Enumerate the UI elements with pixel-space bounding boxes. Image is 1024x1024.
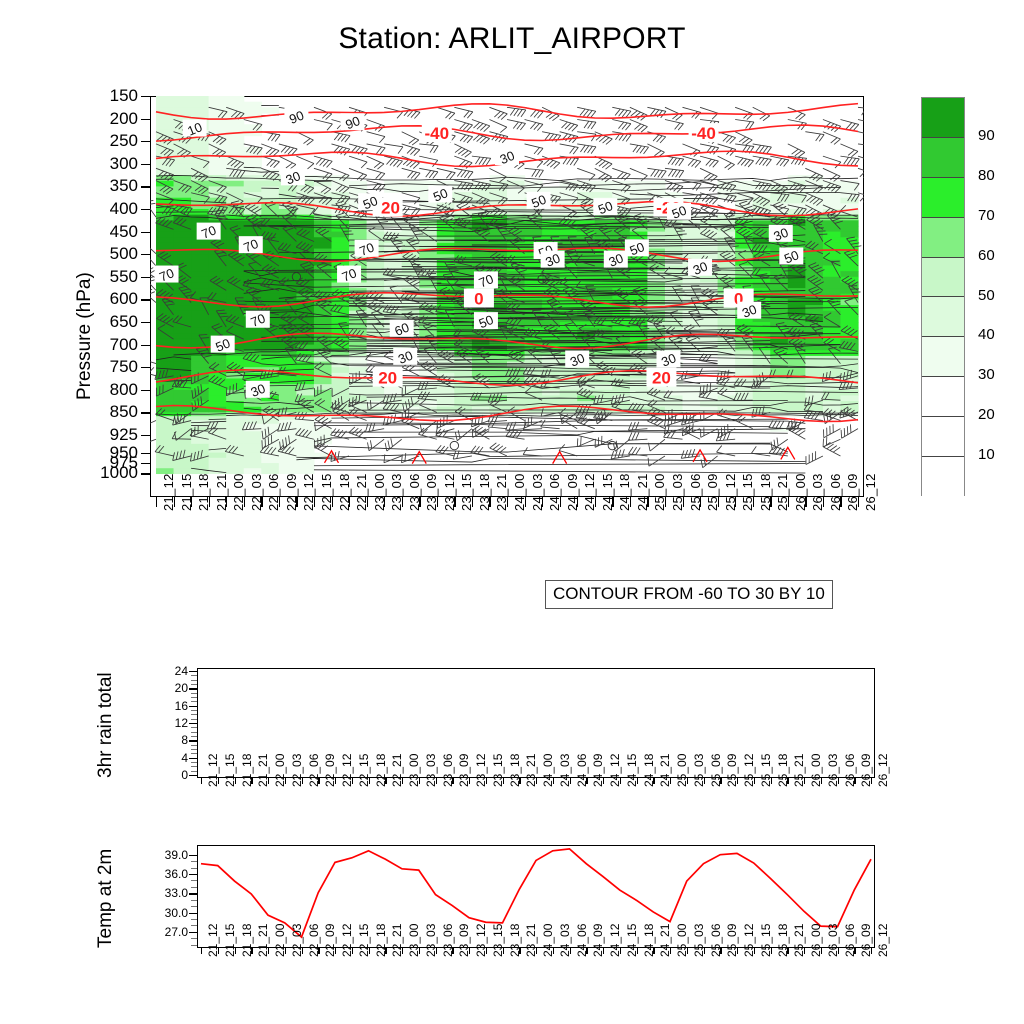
temp-x-tick [771,948,772,954]
rain-x-tick-label: 26_12 [876,754,890,787]
colorbar-swatch [922,178,964,218]
rain-x-tick [687,778,688,784]
temp-x-tick [469,948,470,954]
colorbar-tick-label: 30 [978,366,995,383]
rain-x-tick [603,778,604,784]
main-y-tick-label: 850 [84,403,138,420]
main-y-tick [141,96,150,97]
main-x-tick [349,497,350,507]
temp-y-tick [189,893,197,894]
rain-x-tick [419,778,420,784]
rain-x-tick [771,778,772,784]
figure-root: Station: ARLIT_AIRPORT Pressure (hPa) 15… [0,0,1024,1024]
rain-x-tick [704,778,705,784]
colorbar-tick-label: 60 [978,247,995,264]
rain-x-tick [268,778,269,784]
main-x-tick [261,497,262,507]
main-y-tick [141,254,150,255]
main-x-tick [858,497,859,507]
rain-y-tick [189,740,197,741]
temp-x-tick [536,948,537,954]
temp-x-tick [804,948,805,954]
temp-x-tick [436,948,437,954]
main-y-tick [141,412,150,413]
temp-x-tick [302,948,303,954]
main-y-tick [141,164,150,165]
page-title: Station: ARLIT_AIRPORT [0,22,1024,56]
rain-y-tick-label: 24 [150,665,188,677]
main-x-tick [718,497,719,507]
temp-x-tick [369,948,370,954]
rain-y-tick [189,775,197,776]
rain-x-tick [469,778,470,784]
rain-y-tick [189,671,197,672]
main-x-tick [402,497,403,507]
main-y-tick [141,473,150,474]
colorbar-swatch [922,218,964,258]
temp-x-tick [737,948,738,954]
main-y-tick-label: 925 [84,426,138,443]
temp-x-tick [352,948,353,954]
rain-x-tick [838,778,839,784]
main-y-tick [141,390,150,391]
main-x-tick [209,497,210,507]
main-y-tick [141,119,150,120]
rain-x-tick [436,778,437,784]
colorbar-swatch [922,417,964,457]
rain-x-tick [586,778,587,784]
rain-y-tick [189,758,197,759]
rain-x-tick [620,778,621,784]
main-x-tick [191,497,192,507]
main-x-tick [437,497,438,507]
rain-x-tick [318,778,319,784]
temp-y-tick [189,855,197,856]
main-x-tick [647,497,648,507]
main-x-tick [577,497,578,507]
colorbar-swatch [922,377,964,417]
rain-y-tick-label: 0 [150,769,188,781]
main-x-tick [332,497,333,507]
colorbar-tick-label: 20 [978,406,995,423]
rain-y-tick [189,723,197,724]
rain-x-tick [352,778,353,784]
main-y-tick [141,277,150,278]
colorbar-swatch [922,297,964,337]
temp-x-tick [419,948,420,954]
temp-x-tick [503,948,504,954]
colorbar-tick-label: 80 [978,167,995,184]
colorbar-tick-label: 70 [978,207,995,224]
temp-y-tick-label: 27.0 [134,926,188,938]
main-x-tick [630,497,631,507]
main-y-tick-label: 1000 [84,464,138,481]
main-x-tick [612,497,613,507]
main-x-tick [156,497,157,507]
temp-x-tick [720,948,721,954]
colorbar-tick-label: 50 [978,287,995,304]
rain-x-tick [871,778,872,784]
rain-x-tick [503,778,504,784]
main-y-tick-label: 200 [84,110,138,127]
rain-y-tick-label: 12 [150,717,188,729]
main-x-tick [454,497,455,507]
main-y-tick-label: 250 [84,132,138,149]
temp-x-tick [318,948,319,954]
main-y-tick [141,299,150,300]
temp-x-tick [670,948,671,954]
colorbar-swatch [922,138,964,178]
temp-x-tick [570,948,571,954]
temp-x-tick [854,948,855,954]
main-x-tick [419,497,420,507]
main-y-tick [141,435,150,436]
main-x-tick [226,497,227,507]
rain-x-tick [854,778,855,784]
temp-x-tick [201,948,202,954]
rain-x-tick [553,778,554,784]
main-y-tick [141,453,150,454]
main-x-tick [805,497,806,507]
temp-x-tick [653,948,654,954]
rain-x-tick [720,778,721,784]
temp-x-tick [452,948,453,954]
temp-x-tick [285,948,286,954]
main-x-tick [174,497,175,507]
main-y-tick-label: 150 [84,87,138,104]
main-y-tick-label: 300 [84,155,138,172]
main-y-tick-label: 400 [84,200,138,217]
main-y-tick-label: 750 [84,358,138,375]
main-x-tick [735,497,736,507]
rain-x-tick [235,778,236,784]
main-x-tick [840,497,841,507]
main-y-tick [141,322,150,323]
main-x-tick [595,497,596,507]
main-x-tick [788,497,789,507]
main-y-tick [141,186,150,187]
rain-x-tick [335,778,336,784]
temp-x-tick [821,948,822,954]
main-x-tick [507,497,508,507]
temp-x-tick [335,948,336,954]
rain-x-tick [637,778,638,784]
temp-y-tick [189,874,197,875]
rain-x-tick [369,778,370,784]
rain-x-tick [201,778,202,784]
temp-y-tick-label: 30.0 [134,907,188,919]
temp-x-tick [620,948,621,954]
main-x-tick [560,497,561,507]
rain-x-tick [285,778,286,784]
rain-x-tick [519,778,520,784]
main-x-tick [665,497,666,507]
main-y-tick-label: 650 [84,313,138,330]
main-y-tick [141,367,150,368]
main-x-tick [244,497,245,507]
rain-y-tick-label: 16 [150,700,188,712]
temp-x-tick [519,948,520,954]
temp-x-tick [586,948,587,954]
colorbar-tick-label: 10 [978,446,995,463]
main-y-tick-label: 800 [84,381,138,398]
temp-y-tick [189,932,197,933]
temp-x-tick [385,948,386,954]
main-y-tick-label: 550 [84,268,138,285]
main-x-tick [367,497,368,507]
rain-x-tick [251,778,252,784]
main-y-tick-label: 700 [84,336,138,353]
rain-x-tick [302,778,303,784]
colorbar-swatch [922,337,964,377]
cross-section-plot: -40-40-20-200020201090907070707070703050… [150,96,864,497]
rain-x-tick [402,778,403,784]
temp-x-tick [268,948,269,954]
main-x-tick [489,497,490,507]
main-x-tick [700,497,701,507]
main-x-tick [753,497,754,507]
temp-x-tick [553,948,554,954]
main-x-tick [279,497,280,507]
temp-x-tick [486,948,487,954]
main-y-tick-label: 450 [84,223,138,240]
temp-x-tick [402,948,403,954]
rain-x-tick [452,778,453,784]
main-x-tick [683,497,684,507]
temp-y-tick [189,913,197,914]
rain-x-tick [218,778,219,784]
temp-x-tick [787,948,788,954]
rain-x-tick [536,778,537,784]
temp-x-tick-label: 26_12 [876,924,890,957]
main-x-tick [472,497,473,507]
rain-y-tick [189,688,197,689]
temp-y-tick-label: 33.0 [134,887,188,899]
temp-y-tick-label: 36.0 [134,868,188,880]
rain-x-tick [737,778,738,784]
rain-y-tick [189,706,197,707]
temp-x-tick [251,948,252,954]
temp-x-tick [754,948,755,954]
main-x-tick [296,497,297,507]
main-y-tick [141,345,150,346]
temp-x-tick [687,948,688,954]
rain-y-tick-label: 8 [150,734,188,746]
colorbar-tick-label: 40 [978,326,995,343]
main-x-tick [542,497,543,507]
main-x-tick [314,497,315,507]
rain-panel-title: 3hr rain total [95,672,117,778]
temp-x-tick [235,948,236,954]
rain-x-tick [787,778,788,784]
colorbar-swatch [922,258,964,298]
rain-x-tick [486,778,487,784]
colorbar [921,97,965,496]
rain-x-tick [570,778,571,784]
temp-x-tick [603,948,604,954]
rain-x-tick [653,778,654,784]
rain-x-tick [804,778,805,784]
rain-x-tick [821,778,822,784]
temp-x-tick [637,948,638,954]
main-y-tick-label: 600 [84,290,138,307]
temp-x-tick [871,948,872,954]
main-x-tick [384,497,385,507]
main-y-tick [141,232,150,233]
main-x-tick-label: 26_12 [863,473,878,511]
temp-x-tick [838,948,839,954]
main-y-tick [141,463,150,464]
colorbar-swatch [922,457,964,497]
main-y-tick [141,209,150,210]
temp-x-tick [218,948,219,954]
temp-y-tick-label: 39.0 [134,849,188,861]
colorbar-tick-label: 90 [978,127,995,144]
rain-x-tick [385,778,386,784]
main-x-tick [770,497,771,507]
main-x-tick [525,497,526,507]
rain-x-tick [754,778,755,784]
temp-panel-title: Temp at 2m [95,849,117,948]
main-x-tick [823,497,824,507]
contour-legend: CONTOUR FROM -60 TO 30 BY 10 [545,580,833,609]
main-y-tick-label: 500 [84,245,138,262]
main-y-tick [141,141,150,142]
colorbar-swatch [922,98,964,138]
temp-x-tick [704,948,705,954]
main-y-tick-label: 350 [84,177,138,194]
rain-y-tick-label: 20 [150,682,188,694]
rain-x-tick [670,778,671,784]
rain-y-tick-label: 4 [150,752,188,764]
